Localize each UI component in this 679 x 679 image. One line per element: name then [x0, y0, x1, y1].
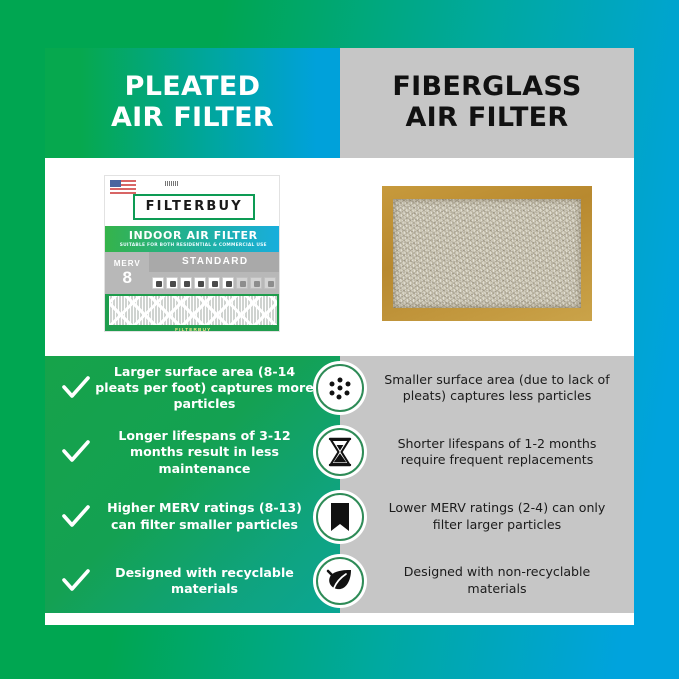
check-icon — [59, 500, 93, 534]
fiberglass-banner-title: FIBERGLASS AIR FILTER — [392, 72, 581, 134]
feature-icon-virus — [236, 277, 248, 289]
check-icon — [59, 435, 93, 469]
indoor-air-filter-title: INDOOR AIR FILTER — [129, 229, 258, 242]
pleated-filter-image: FILTERBUY INDOOR AIR FILTER SUITABLE FOR… — [104, 175, 280, 332]
grade-column: STANDARD — [149, 252, 280, 294]
fiberglass-product-cell — [340, 158, 635, 348]
indoor-air-filter-subtitle: SUITABLE FOR BOTH RESIDENTIAL & COMMERCI… — [120, 243, 267, 248]
fiberglass-drawback-text: Shorter lifespans of 1-2 months require … — [376, 436, 618, 469]
fiberglass-filter-image — [382, 186, 592, 321]
filter-foot-brand: FILTERBUY — [105, 327, 280, 332]
table-row: Longer lifespans of 3-12 months result i… — [45, 420, 340, 484]
pleated-benefits-column: Larger surface area (8-14 pleats per foo… — [45, 356, 340, 613]
pleated-banner-title: PLEATED AIR FILTER — [111, 72, 274, 134]
table-row: Higher MERV ratings (8-13) can filter sm… — [45, 485, 340, 549]
table-row: Larger surface area (8-14 pleats per foo… — [45, 356, 340, 420]
product-image-row: FILTERBUY INDOOR AIR FILTER SUITABLE FOR… — [45, 158, 634, 348]
feature-icon-bacteria — [208, 277, 220, 289]
merv-grade-bar: MERV 8 STANDARD — [105, 252, 280, 294]
filterbuy-logo: FILTERBUY — [133, 194, 255, 220]
header-fiberglass-panel: FIBERGLASS AIR FILTER — [340, 48, 634, 158]
feature-icon-pollen — [152, 277, 164, 289]
pleated-media-graphic: FILTERBUY — [105, 294, 280, 332]
table-row: Designed with recyclable materials — [45, 549, 340, 613]
fiberglass-drawback-text: Lower MERV ratings (2-4) can only filter… — [376, 500, 618, 533]
leaf-icon — [316, 557, 364, 605]
feature-icon-voc — [264, 277, 276, 289]
table-row: Shorter lifespans of 1-2 months require … — [340, 420, 634, 484]
bookmark-icon — [316, 493, 364, 541]
feature-icon-dust — [166, 277, 178, 289]
hourglass-icon — [316, 428, 364, 476]
filterbuy-logo-text: FILTERBUY — [146, 199, 243, 214]
check-icon — [59, 564, 93, 598]
feature-icon-odor — [250, 277, 262, 289]
usa-flag-icon — [110, 180, 136, 194]
feature-icon-mold — [180, 277, 192, 289]
pleated-benefit-text: Larger surface area (8-14 pleats per foo… — [93, 364, 314, 413]
comparison-grid: Larger surface area (8-14 pleats per foo… — [45, 356, 634, 613]
merv-label: MERV — [114, 259, 141, 268]
fiberglass-mesh-texture — [393, 199, 581, 308]
pleated-benefit-text: Longer lifespans of 3-12 months result i… — [93, 428, 314, 477]
pleat-texture — [109, 296, 277, 325]
table-row: Smaller surface area (due to lack of ple… — [340, 356, 634, 420]
barcode-icon — [165, 181, 179, 186]
particles-dots-icon — [316, 364, 364, 412]
table-row: Lower MERV ratings (2-4) can only filter… — [340, 485, 634, 549]
merv-badge: MERV 8 — [105, 252, 149, 294]
comparison-card: PLEATED AIR FILTER FIBERGLASS AIR FILTER… — [45, 48, 634, 625]
feature-icon-pet-dander — [194, 277, 206, 289]
fiberglass-drawback-text: Designed with non-recyclable materials — [376, 564, 618, 597]
check-icon — [59, 371, 93, 405]
header-row: PLEATED AIR FILTER FIBERGLASS AIR FILTER — [45, 48, 634, 158]
merv-value: 8 — [123, 269, 132, 286]
indoor-air-filter-banner: INDOOR AIR FILTER SUITABLE FOR BOTH RESI… — [105, 226, 280, 252]
fiberglass-drawbacks-column: Smaller surface area (due to lack of ple… — [340, 356, 634, 613]
table-row: Designed with non-recyclable materials — [340, 549, 634, 613]
fiberglass-drawback-text: Smaller surface area (due to lack of ple… — [376, 372, 618, 405]
feature-icon-strip — [149, 272, 280, 294]
comparison-section: Larger surface area (8-14 pleats per foo… — [45, 348, 634, 625]
pleated-benefit-text: Designed with recyclable materials — [93, 565, 314, 598]
grade-label: STANDARD — [149, 252, 280, 272]
pleated-product-cell: FILTERBUY INDOOR AIR FILTER SUITABLE FOR… — [45, 158, 340, 348]
header-pleated-panel: PLEATED AIR FILTER — [45, 48, 340, 158]
feature-icon-smoke — [222, 277, 234, 289]
pleated-benefit-text: Higher MERV ratings (8-13) can filter sm… — [93, 500, 314, 533]
